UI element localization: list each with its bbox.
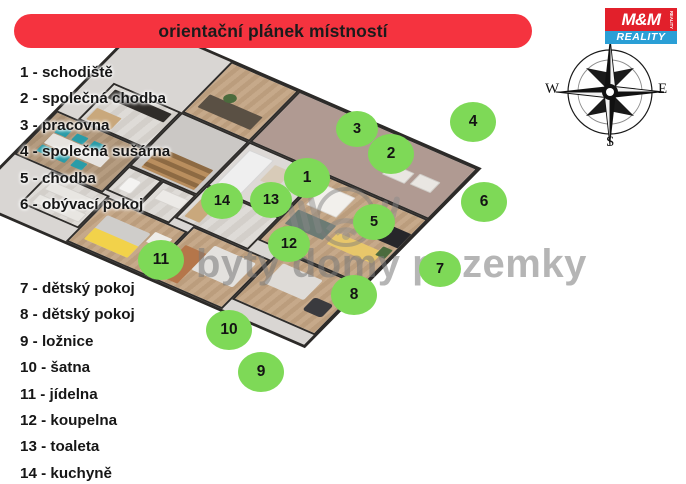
legend-item-4: 11 - jídelna — [20, 382, 135, 408]
room-marker-13[interactable]: 13 — [250, 182, 292, 218]
room-marker-8[interactable]: 8 — [331, 275, 377, 315]
brand-logo: M&M REALITY REALITY — [605, 8, 677, 44]
brand-name: M&M — [621, 11, 660, 28]
legend-item-4: 5 - chodba — [20, 166, 170, 192]
room-marker-12[interactable]: 12 — [268, 226, 310, 262]
legend-item-5: 6 - obývací pokoj — [20, 192, 170, 218]
compass-label-west: W — [545, 81, 559, 98]
legend-item-0: 7 - dětský pokoj — [20, 276, 135, 302]
room-marker-6[interactable]: 6 — [461, 182, 507, 222]
legend-item-3: 10 - šatna — [20, 355, 135, 381]
legend-item-1: 8 - dětský pokoj — [20, 302, 135, 328]
compass-rose: N E S W — [548, 30, 672, 154]
legend-item-3: 4 - společná sušárna — [20, 139, 170, 165]
brand-logo-side-text: REALITY — [667, 10, 675, 29]
legend-item-0: 1 - schodiště — [20, 60, 170, 86]
legend-item-2: 3 - pracovna — [20, 113, 170, 139]
room-marker-1[interactable]: 1 — [284, 158, 330, 198]
room-marker-2[interactable]: 2 — [368, 134, 414, 174]
room-marker-7[interactable]: 7 — [419, 251, 461, 287]
legend-item-7: 14 - kuchyně — [20, 461, 135, 484]
room-marker-11[interactable]: 11 — [138, 240, 184, 280]
compass-label-east: E — [658, 81, 667, 98]
brand-logo-bottom: REALITY — [605, 31, 677, 44]
room-marker-9[interactable]: 9 — [238, 352, 284, 392]
room-marker-5[interactable]: 5 — [353, 204, 395, 240]
page-title-banner: orientační plánek místností — [14, 14, 532, 48]
brand-subtitle: REALITY — [616, 32, 665, 43]
legend-item-5: 12 - koupelna — [20, 408, 135, 434]
room-marker-14[interactable]: 14 — [201, 183, 243, 219]
room-marker-4[interactable]: 4 — [450, 102, 496, 142]
legend-item-2: 9 - ložnice — [20, 329, 135, 355]
floorplan-image: byty domy pozemky 1234567891011121314 or… — [0, 0, 686, 484]
compass-label-south: S — [606, 134, 614, 151]
room-marker-3[interactable]: 3 — [336, 111, 378, 147]
page-title: orientační plánek místností — [158, 21, 387, 42]
legend-bottom: 7 - dětský pokoj8 - dětský pokoj9 - ložn… — [20, 276, 135, 484]
legend-item-6: 13 - toaleta — [20, 434, 135, 460]
legend-top: 1 - schodiště2 - společná chodba3 - prac… — [20, 60, 170, 218]
legend-item-1: 2 - společná chodba — [20, 86, 170, 112]
room-marker-10[interactable]: 10 — [206, 310, 252, 350]
